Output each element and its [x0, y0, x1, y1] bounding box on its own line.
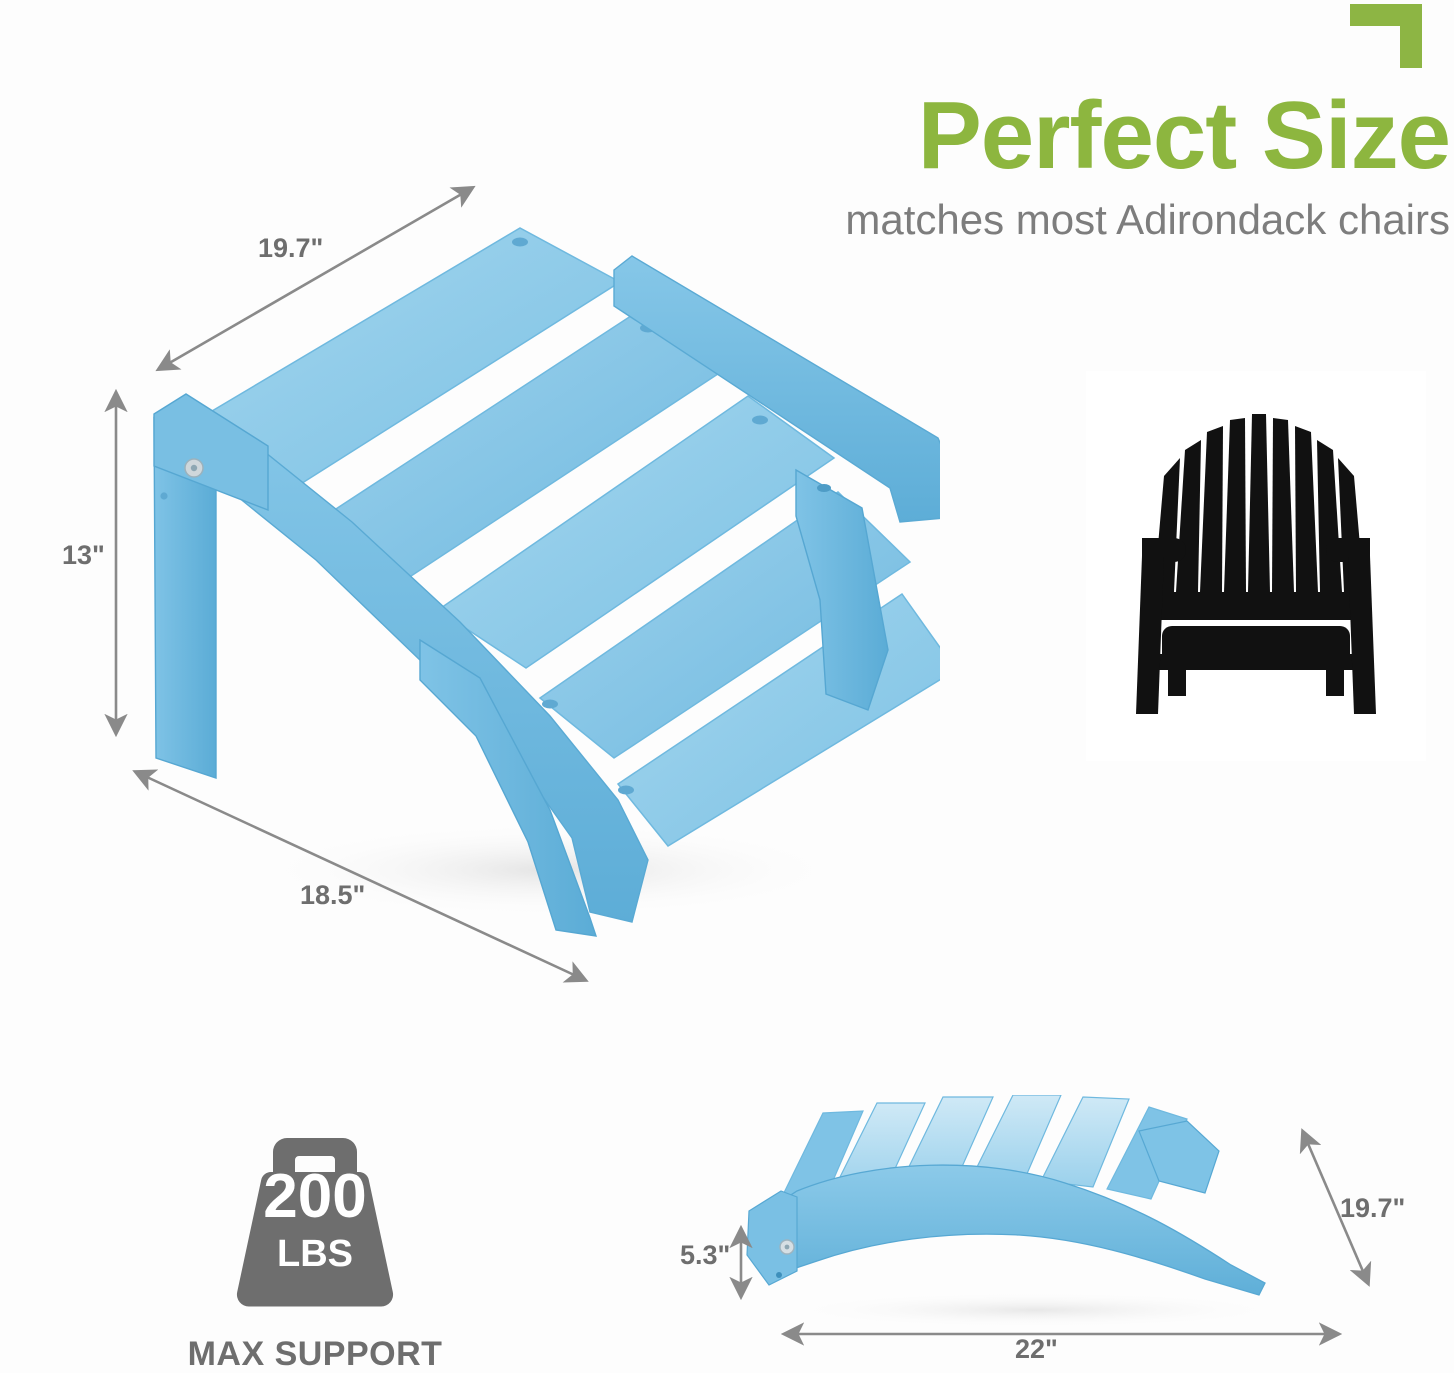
max-support-caption: MAX SUPPORT	[150, 1335, 480, 1374]
dimension-label-width-197: 19.7"	[258, 233, 323, 264]
bolt-hole-left	[160, 492, 167, 499]
screw-slot-left	[191, 465, 197, 471]
dimension-label-depth-185: 18.5"	[300, 880, 365, 911]
adirondack-chair-card	[1086, 371, 1426, 761]
corner-bracket-icon	[1350, 4, 1422, 68]
dimension-label-height-53: 5.3"	[680, 1240, 730, 1271]
weight-amount: 200	[215, 1166, 415, 1228]
folded-end-cap	[747, 1191, 797, 1285]
infographic-canvas: Perfect Size matches most Adirondack cha…	[0, 0, 1454, 1373]
dimension-label-height-13: 13"	[62, 540, 105, 571]
adirondack-chair-icon	[1106, 396, 1406, 736]
folded-screw-slot	[785, 1245, 790, 1250]
corner-bracket-vertical-bar	[1400, 4, 1422, 68]
bolt-hole-right	[817, 484, 831, 492]
product-render-unfolded	[120, 170, 940, 970]
weight-icon: 200 LBS	[215, 1128, 415, 1323]
dimension-label-width-22: 22"	[1015, 1334, 1058, 1365]
folded-bolt-hole	[776, 1272, 782, 1278]
max-support-badge: 200 LBS MAX SUPPORT	[150, 1128, 480, 1374]
dimension-label-depth-197: 19.7"	[1340, 1193, 1405, 1224]
folded-shadow	[780, 1292, 1290, 1328]
product-render-folded	[735, 1095, 1315, 1330]
weight-unit: LBS	[215, 1235, 415, 1273]
